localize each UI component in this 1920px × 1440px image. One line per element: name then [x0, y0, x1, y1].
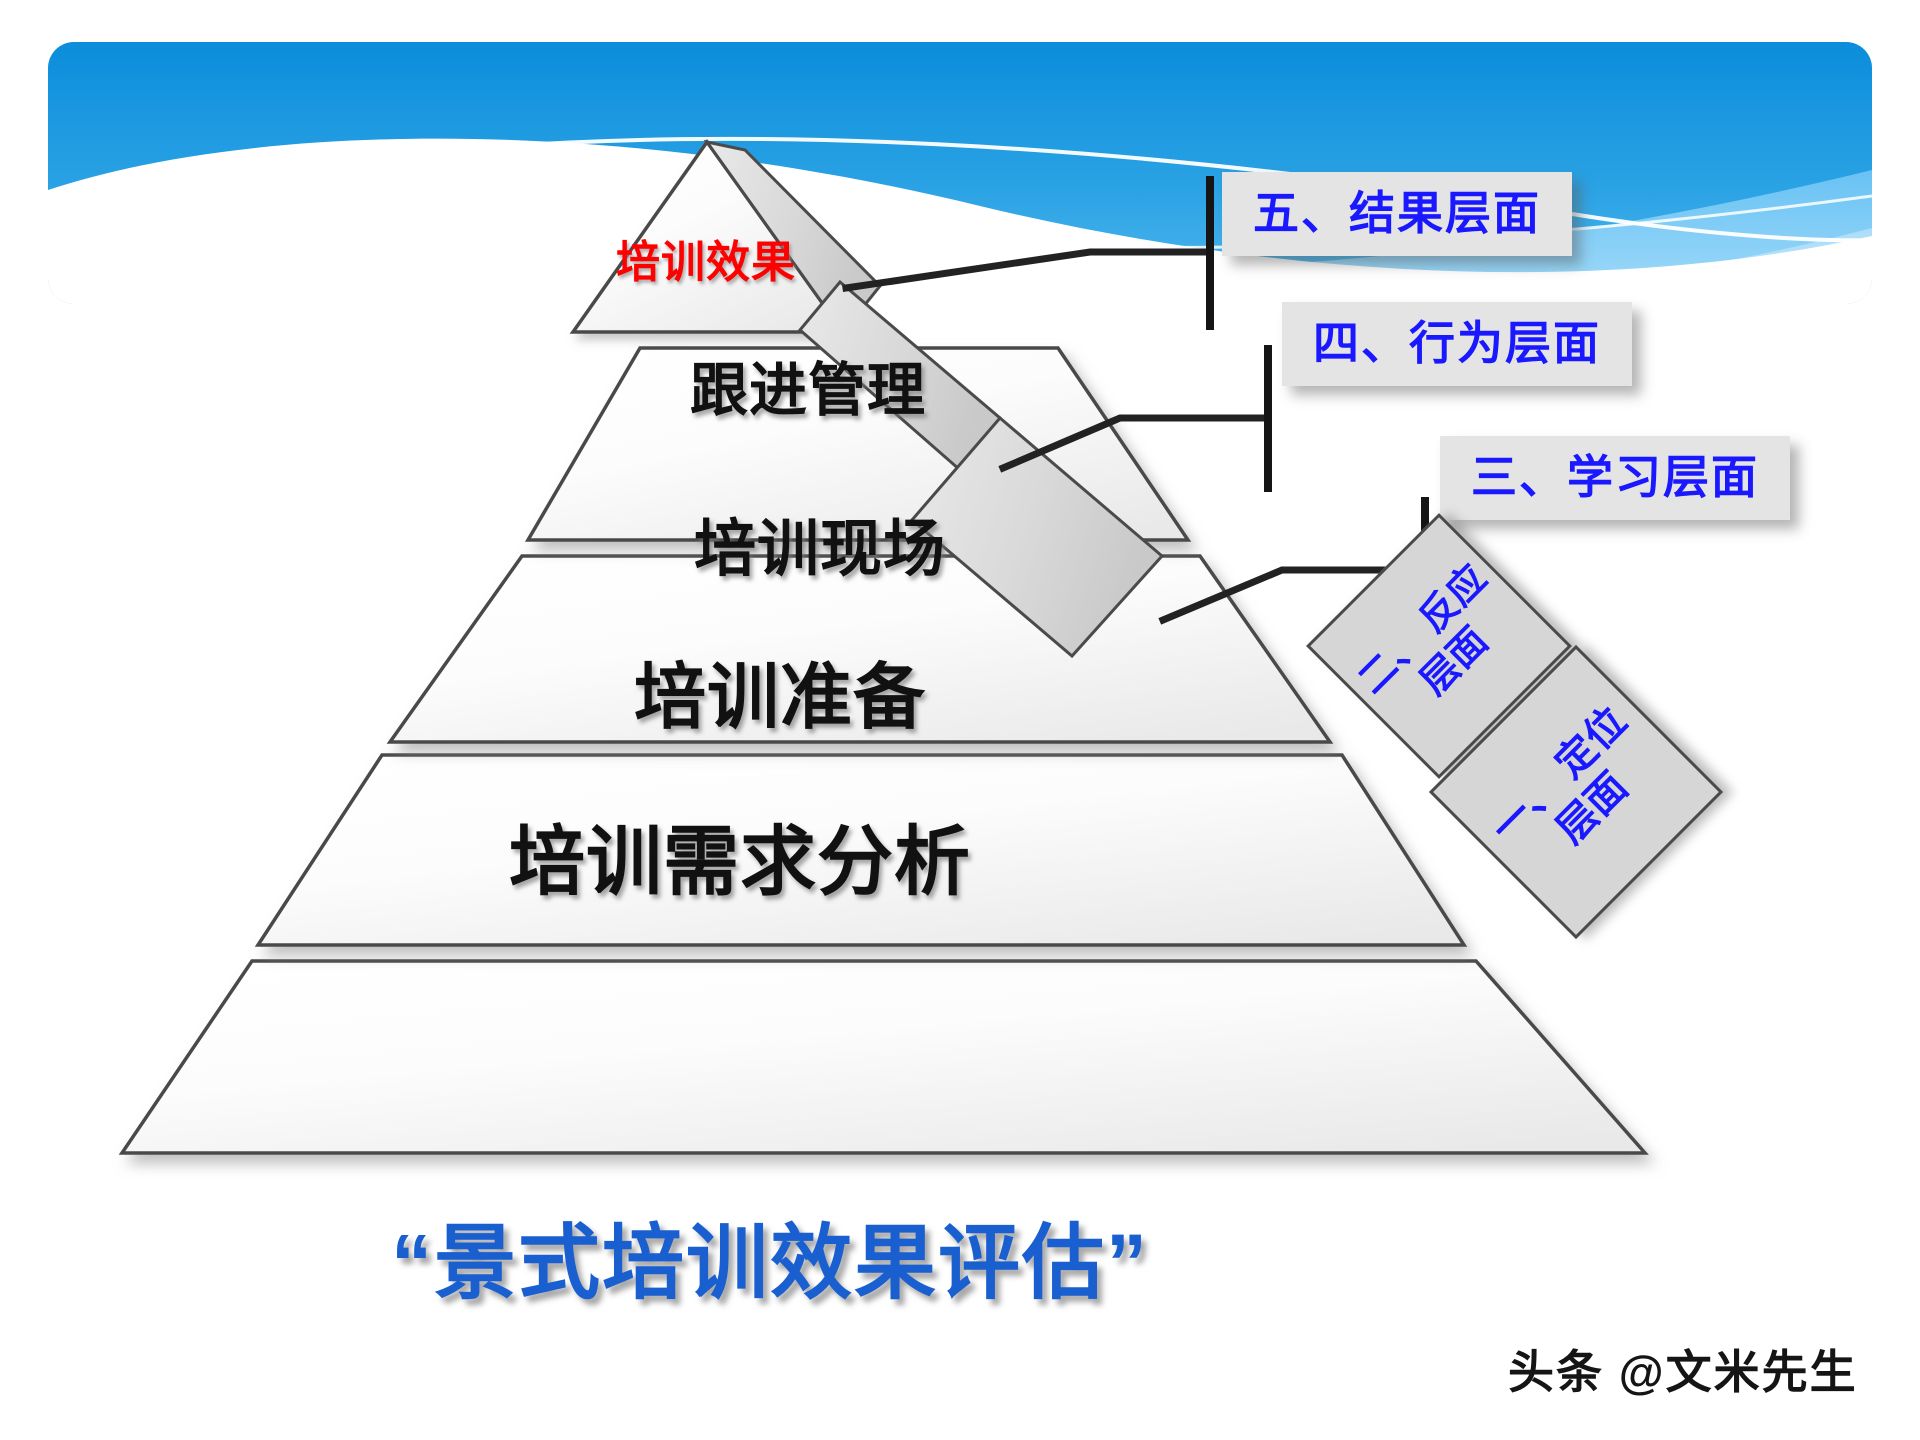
pyramid-tier-preparation[interactable]: [258, 755, 1464, 945]
callout-level-2-line-1: 二、: [1351, 619, 1434, 702]
watermark: 头条 @文米先生: [1508, 1336, 1858, 1402]
callout-level-1-line-1: 一、: [1483, 763, 1571, 851]
callout-level-5[interactable]: 五、结果层面: [1222, 172, 1572, 256]
pyramid-tier-onsite[interactable]: [390, 556, 1330, 742]
callout-level-4[interactable]: 四、行为层面: [1282, 302, 1632, 386]
pyramid-tier-base[interactable]: [122, 961, 1645, 1153]
callout-level-2-line-2: 反应: [1412, 558, 1495, 641]
connector-level-5: [846, 252, 1210, 288]
callout-level-1-lines: 一、 定位 层面: [1471, 687, 1681, 897]
callout-level-2-line-3: 层面: [1413, 620, 1496, 703]
callout-level-3[interactable]: 三、学习层面: [1440, 436, 1790, 520]
slide-canvas: 培训效果 跟进管理 培训现场 培训准备 培训需求分析 五、结果层面 四、行为层面…: [0, 0, 1920, 1440]
callout-level-1-line-2: 定位: [1547, 699, 1635, 787]
callout-level-1-line-3: 层面: [1548, 764, 1636, 852]
footer-title: “景式培训效果评估”: [0, 1196, 1540, 1315]
